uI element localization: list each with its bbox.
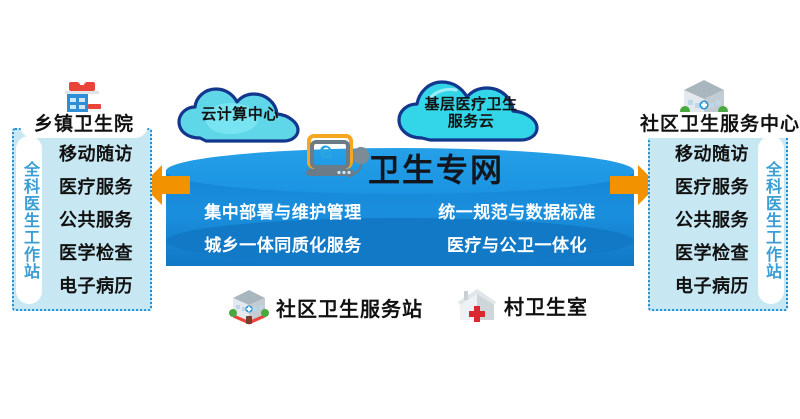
cylinder-bullet-grid: 集中部署与维护管理 统一规范与数据标准 城乡一体同质化服务 医疗与公卫一体化 <box>166 198 634 256</box>
panel-item[interactable]: 医学检查 <box>46 237 146 270</box>
panel-title: 社区卫生服务中心 <box>632 112 800 138</box>
legend-label: 社区卫生服务站 <box>276 293 423 322</box>
cylinder-bullet: 城乡一体同质化服务 <box>166 231 400 256</box>
panel-item[interactable]: 电子病历 <box>662 270 762 303</box>
panel-item[interactable]: 移动随访 <box>46 138 146 171</box>
health-network-title: 卫生专网 <box>368 145 504 191</box>
panel-item-list: 移动随访 医疗服务 公共服务 医学检查 电子病历 <box>46 138 146 303</box>
legend-community-health-station[interactable]: 社区卫生服务站 <box>228 288 423 326</box>
diagram-canvas: 云计算中心 基层医疗卫生 服务云 <box>0 0 800 419</box>
panel-community-health-service-center[interactable]: 社区卫生服务中心 全科医生工作站 移动随访 医疗服务 公共服务 医学检查 电子病… <box>648 128 788 311</box>
primary-health-service-cloud-label: 基层医疗卫生 服务云 <box>396 78 546 144</box>
cloud-label-line: 云计算中心 <box>201 106 279 123</box>
panel-item[interactable]: 医学检查 <box>662 237 762 270</box>
village-clinic-house-icon <box>456 286 498 324</box>
cloud-label-line: 基层医疗卫生 <box>424 96 517 113</box>
panel-item[interactable]: 公共服务 <box>662 204 762 237</box>
cloud-label-line: 服务云 <box>448 113 495 130</box>
panel-item[interactable]: 医疗服务 <box>662 171 762 204</box>
panel-title: 乡镇卫生院 <box>20 112 148 138</box>
panel-item[interactable]: 移动随访 <box>662 138 762 171</box>
vertical-tab-gp-workstation[interactable]: 全科医生工作站 <box>16 136 42 304</box>
panel-item[interactable]: 医疗服务 <box>46 171 146 204</box>
community-station-building-icon <box>228 288 270 326</box>
panel-township-health-center[interactable]: 乡镇卫生院 全科医生工作站 移动随访 医疗服务 公共服务 医学检查 电子病历 <box>12 128 152 311</box>
panel-item[interactable]: 公共服务 <box>46 204 146 237</box>
cylinder-bullet: 集中部署与维护管理 <box>166 198 400 223</box>
cloud-computing-center-label: 云计算中心 <box>176 86 304 144</box>
panel-item[interactable]: 电子病历 <box>46 270 146 303</box>
panel-item-list: 移动随访 医疗服务 公共服务 医学检查 电子病历 <box>662 138 762 303</box>
legend-label: 村卫生室 <box>504 291 588 320</box>
cloud-computing-center-node[interactable]: 云计算中心 <box>176 86 304 144</box>
legend-village-clinic[interactable]: 村卫生室 <box>456 286 588 324</box>
laptop-browser-icon <box>303 133 375 185</box>
cylinder-bullet: 医疗与公卫一体化 <box>400 231 634 256</box>
cylinder-bullet: 统一规范与数据标准 <box>400 198 634 223</box>
primary-health-service-cloud-node[interactable]: 基层医疗卫生 服务云 <box>396 78 546 144</box>
